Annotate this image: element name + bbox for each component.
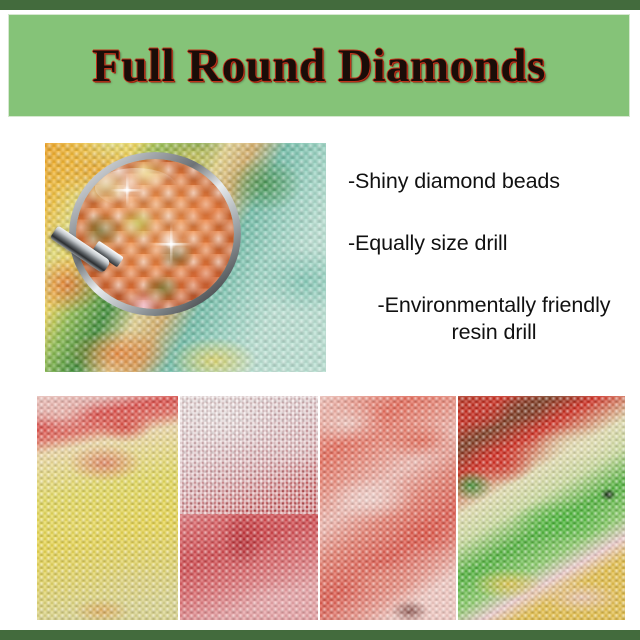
macro-panel-yellow-pink xyxy=(37,396,178,620)
bottom-accent-bar xyxy=(0,630,640,640)
macro-panel-strip xyxy=(37,396,625,620)
drill-texture-offset xyxy=(37,396,178,620)
page-title: Full Round Diamonds xyxy=(92,39,546,93)
feature-item-shiny-beads: -Shiny diamond beads xyxy=(348,168,640,194)
macro-panel-coral-petals xyxy=(320,396,456,620)
drill-texture-offset xyxy=(458,396,625,620)
feature-item-eco-resin: -Environmentally friendly resin drill xyxy=(348,292,640,344)
hero-photo xyxy=(45,143,326,372)
product-infographic: Full Round Diamonds -Shiny diamond beads… xyxy=(0,0,640,640)
drill-texture-offset xyxy=(180,396,318,620)
feature-list: -Shiny diamond beads -Equally size drill… xyxy=(348,168,640,345)
magnifier-rim xyxy=(69,152,241,316)
top-accent-bar xyxy=(0,0,640,10)
macro-panel-red-green xyxy=(458,396,625,620)
macro-panel-pink-weave xyxy=(180,396,318,620)
title-banner: Full Round Diamonds xyxy=(8,14,630,117)
magnifier-icon xyxy=(69,152,241,316)
feature-item-equal-size: -Equally size drill xyxy=(348,230,640,256)
drill-texture-offset xyxy=(320,396,456,620)
